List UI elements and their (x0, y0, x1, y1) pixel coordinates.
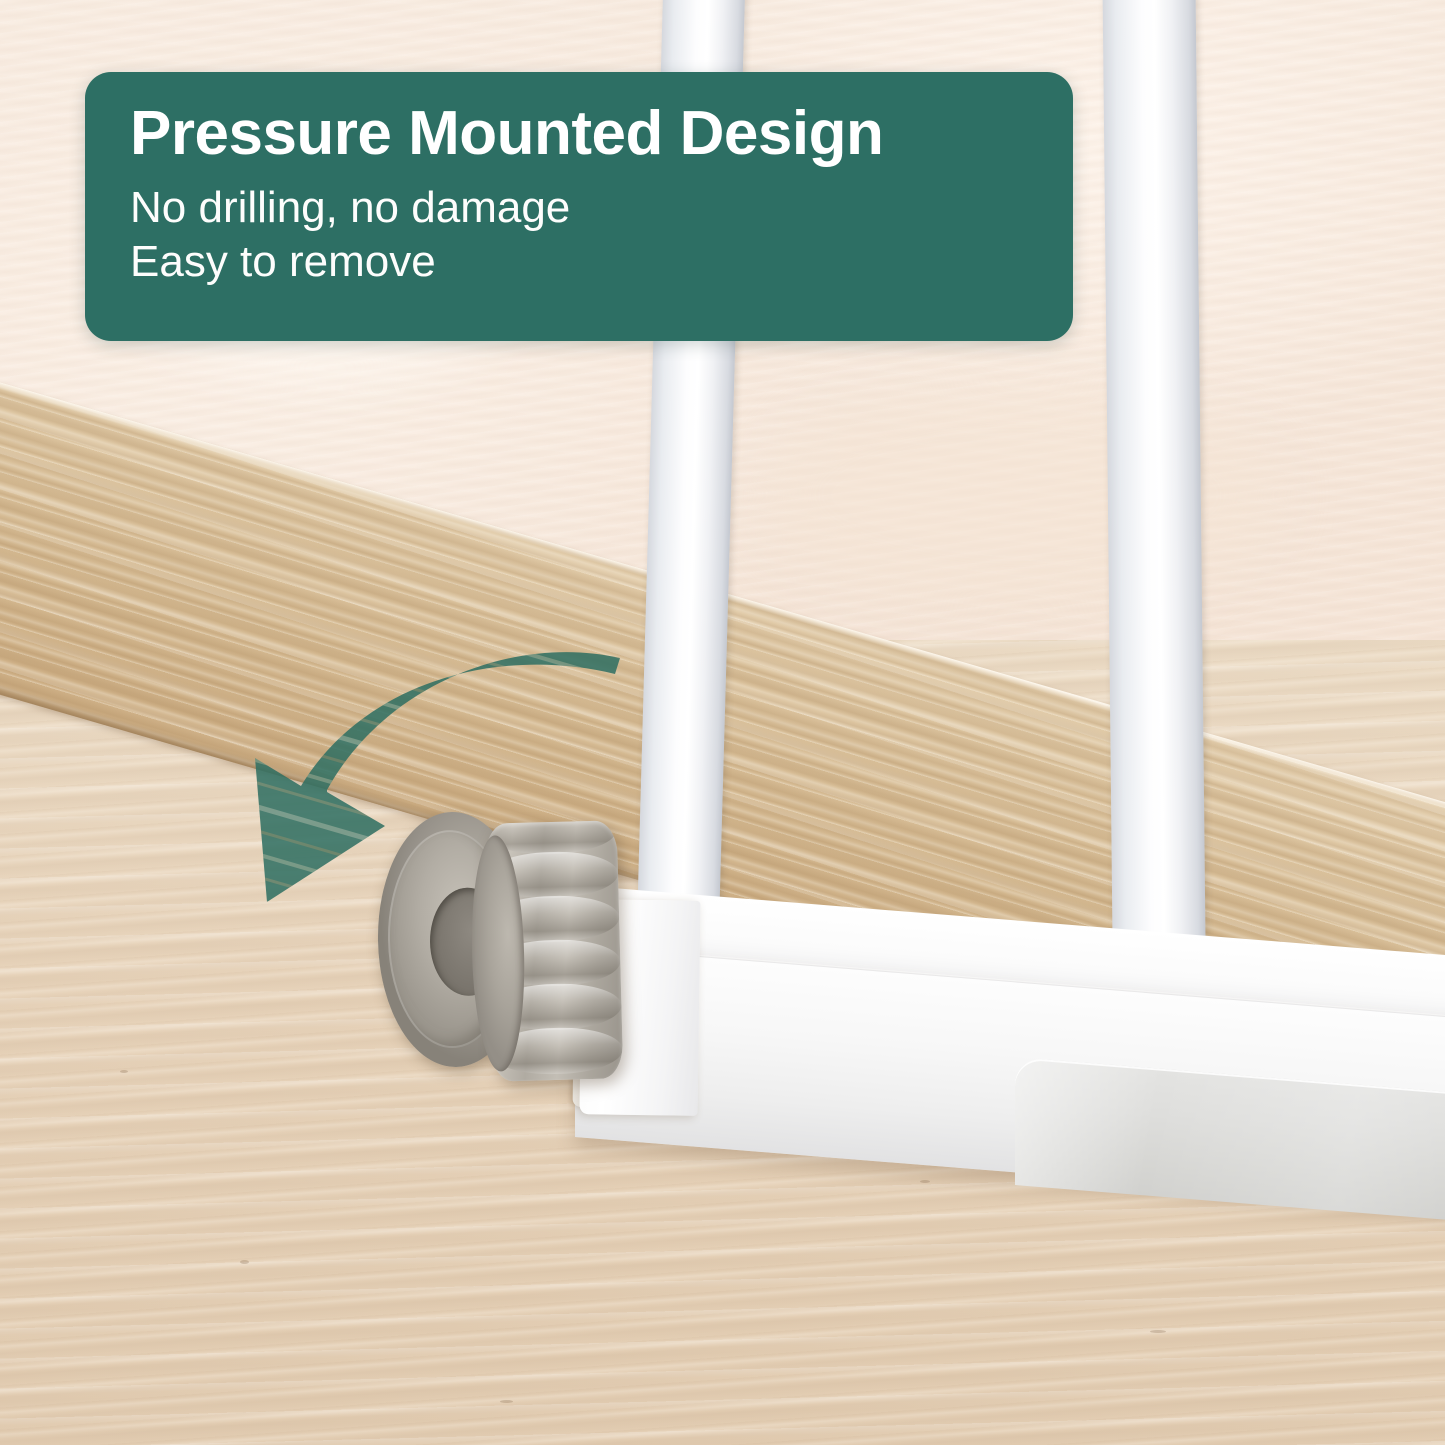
floor-speck (240, 1260, 249, 1264)
floor-speck (120, 1070, 128, 1073)
product-feature-image: Pressure Mounted Design No drilling, no … (0, 0, 1445, 1445)
floor-speck (1150, 1330, 1166, 1333)
banner-subtitle-line-2: Easy to remove (130, 235, 1073, 289)
banner-title: Pressure Mounted Design (130, 102, 1073, 165)
wall-shade (760, 380, 1280, 610)
bottom-rail (575, 885, 1445, 1185)
vertical-bar (1102, 0, 1206, 988)
banner-subtitle-line-1: No drilling, no damage (130, 181, 1073, 235)
adjustment-knob[interactable] (485, 820, 624, 1081)
feature-callout-banner: Pressure Mounted Design No drilling, no … (85, 72, 1073, 341)
floor-speck (500, 1400, 513, 1403)
